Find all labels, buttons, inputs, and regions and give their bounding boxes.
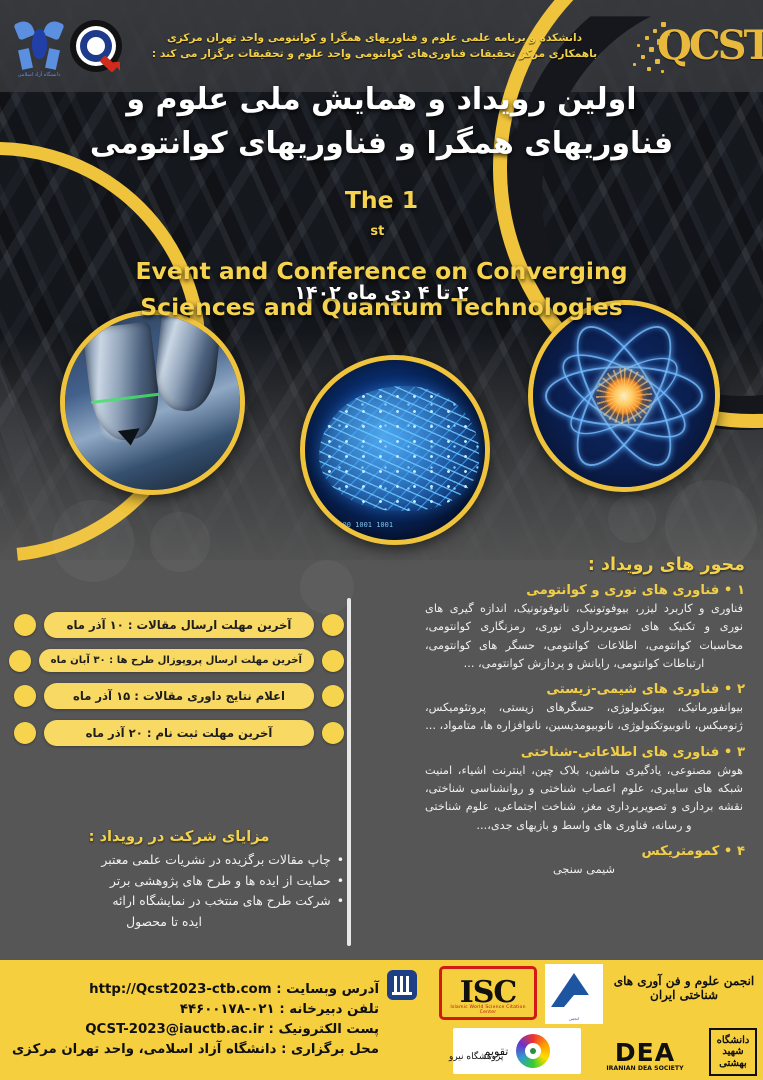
event-date: ۲ تا ۴ دی ماه ۱۴۰۲: [0, 282, 763, 304]
organizer-line-1: دانشکده و برنامه علمی علوم و فناوریهای ه…: [128, 30, 621, 46]
topic-title: ۳ • فناوری های اطلاعاتی-شناختی: [423, 745, 745, 760]
topic-name: فناوری های اطلاعاتی-شناختی: [521, 745, 719, 760]
topic-item: ۲ • فناوری های شیمی-زیستی بیوانفورماتیک،…: [423, 682, 745, 736]
email-line: پست الکترونیک : QCST-2023@iauctb.ac.ir: [2, 1020, 379, 1040]
topic-name: فناوری های نوری و کوانتومی: [526, 583, 719, 598]
deadline-row: آخرین مهلت ارسال مقالات : ۱۰ آذر ماه: [14, 612, 344, 638]
venue-line: محل برگزاری : دانشگاه آزاد اسلامی، واحد …: [2, 1040, 379, 1060]
ordinal-suffix: st: [370, 224, 384, 239]
contact-lines: آدرس وبسایت : http://Qcst2023-ctb.com تل…: [2, 980, 379, 1061]
english-title-prefix: The 1: [0, 183, 763, 219]
qcst-logo: QCST: [627, 10, 755, 82]
proposal-submission-deadline[interactable]: آخرین مهلت ارسال پروپوزال طرح ها : ۳۰ آب…: [39, 649, 314, 672]
bullet-dot-icon: [14, 722, 36, 744]
bullet-icon: •: [337, 871, 344, 892]
beheshti-label: دانشگاه شهید بهشتی: [711, 1035, 755, 1070]
deadline-row: آخرین مهلت ثبت نام : ۲۰ آذر ماه: [14, 720, 344, 746]
benefit-item: • چاپ مقالات برگزیده در نشریات علمی معتب…: [14, 850, 344, 871]
bullet-dot-icon: [14, 685, 36, 707]
venue-label: محل برگزاری :: [281, 1042, 379, 1057]
header-logos: دانشگاه آزاد اسلامی: [8, 15, 122, 77]
bullet-dot-icon: [322, 650, 344, 672]
binary-digits: 0110 0100 1001 1001: [313, 521, 393, 530]
isc-logo: ISC Islamic World Science Citation Cente…: [439, 966, 537, 1020]
benefit-item: • شرکت طرح های منتخب در نمایشگاه ارائه: [14, 891, 344, 912]
benefit-text: حمایت از ایده ها و طرح های پژوهشی برتر: [110, 871, 331, 892]
niroo-research-institute-label: پژوهشگاه نیرو: [449, 1052, 503, 1062]
bullet-dot-icon: [14, 614, 36, 636]
persian-title-line-2: فناوریهای همگرا و فناوریهای کوانتومی: [40, 122, 723, 166]
email-label: پست الکترونیک :: [269, 1022, 379, 1037]
topic-body: هوش مصنوعی، یادگیری ماشین، بلاک چین، این…: [423, 762, 745, 835]
bullet-icon: •: [337, 891, 344, 912]
book-icon: [387, 970, 417, 1000]
benefit-continuation: ایده تا محصول: [14, 912, 344, 933]
ghost-circle: [300, 560, 354, 614]
rainbow-ring-icon: [516, 1034, 550, 1068]
bullet-icon: •: [337, 850, 344, 871]
benefits-heading: مزایای شرکت در رویداد :: [14, 828, 344, 845]
topic-number: ۳: [737, 745, 745, 760]
deadlines-section: آخرین مهلت ارسال مقالات : ۱۰ آذر ماه آخر…: [14, 612, 344, 757]
topic-body: فناوری و کاربرد لیزر، بیوفوتونیک، نانوفو…: [423, 600, 745, 673]
topic-body: شیمی سنجی: [423, 861, 745, 879]
calendar-org-logo: تقویم: [453, 1028, 581, 1074]
phone-number: ۰۲۱-۴۴۶۰۰۱۷۸: [180, 1002, 275, 1017]
website-line: آدرس وبسایت : http://Qcst2023-ctb.com: [2, 980, 379, 1000]
topic-item: ۱ • فناوری های نوری و کوانتومی فناوری و …: [423, 583, 745, 673]
isc-subtitle: Islamic World Science Citation Center: [442, 1005, 534, 1015]
atom-photo: [528, 300, 720, 492]
ghost-circle: [150, 512, 210, 572]
topic-name: فناوری های شیمی-زیستی: [546, 682, 719, 697]
topics-heading: محور های رویداد :: [423, 555, 745, 575]
bullet-dot-icon: [322, 685, 344, 707]
topic-title: ۱ • فناوری های نوری و کوانتومی: [423, 583, 745, 598]
benefits-section: مزایای شرکت در رویداد : • چاپ مقالات برگ…: [14, 828, 344, 932]
cognitive-society-logo: انجمن: [545, 964, 603, 1024]
organizer-text: دانشکده و برنامه علمی علوم و فناوریهای ه…: [122, 30, 627, 63]
topic-item: ۴ • کمومتریکس شیمی سنجی: [423, 844, 745, 879]
english-title: The 1st Event and Conference on Convergi…: [0, 183, 763, 326]
benefit-item: • حمایت از ایده ها و طرح های پژوهشی برتر: [14, 871, 344, 892]
bullet-dot-icon: [322, 614, 344, 636]
quantum-research-center-logo: [70, 20, 122, 72]
contact-info: آدرس وبسایت : http://Qcst2023-ctb.com تل…: [0, 960, 427, 1080]
dea-subtitle: IRANIAN DEA SOCIETY: [585, 1065, 705, 1072]
islamic-azad-university-logo: دانشگاه آزاد اسلامی: [16, 15, 62, 77]
shahid-beheshti-university-logo: دانشگاه شهید بهشتی: [709, 1028, 757, 1076]
persian-title-line-1: اولین رویداد و همایش ملی علوم و: [40, 78, 723, 122]
phone-label: تلفن دبیرخانه :: [279, 1002, 379, 1017]
topic-number: ۲: [737, 682, 745, 697]
deadline-row: اعلام نتایج داوری مقالات : ۱۵ آذر ماه: [14, 683, 344, 709]
isc-wordmark: ISC: [460, 978, 517, 1008]
venue-value: دانشگاه آزاد اسلامی، واحد تهران مرکزی: [12, 1042, 276, 1057]
cognitive-society-name: انجمن علوم و فن آوری های شناختی ایران: [609, 974, 759, 1002]
topic-name: کمومتریکس: [642, 844, 720, 859]
organizer-line-2: باهمکاری مرکز تحقیقات فناوری‌های کوانتوم…: [128, 46, 621, 62]
circuit-brain-photo: 0110 0100 1001 1001: [300, 355, 490, 545]
ghost-circle: [52, 500, 134, 582]
website-url[interactable]: http://Qcst2023-ctb.com: [89, 980, 271, 1000]
poster-footer: ISC Islamic World Science Citation Cente…: [0, 960, 763, 1080]
email-address[interactable]: QCST-2023@iauctb.ac.ir: [85, 1020, 264, 1040]
bullet-dot-icon: [322, 722, 344, 744]
pyramid-icon: [551, 973, 597, 1007]
topic-title: ۲ • فناوری های شیمی-زیستی: [423, 682, 745, 697]
pyramid-caption: انجمن: [545, 1016, 603, 1021]
dea-society-logo: DEA IRANIAN DEA SOCIETY: [585, 1030, 705, 1074]
paper-submission-deadline[interactable]: آخرین مهلت ارسال مقالات : ۱۰ آذر ماه: [44, 612, 314, 638]
qcst-wordmark: QCST: [657, 22, 763, 69]
column-divider: [347, 598, 351, 946]
phone-line: تلفن دبیرخانه : ۰۲۱-۴۴۶۰۰۱۷۸: [2, 1000, 379, 1020]
benefit-text: چاپ مقالات برگزیده در نشریات علمی معتبر: [101, 850, 330, 871]
dea-wordmark: DEA: [615, 1040, 675, 1065]
topic-body: بیوانفورماتیک، بیوتکنولوژی، حسگرهای زیست…: [423, 699, 745, 736]
topic-number: ۱: [737, 583, 745, 598]
persian-title: اولین رویداد و همایش ملی علوم و فناوریها…: [0, 78, 763, 167]
website-label: آدرس وبسایت :: [276, 982, 379, 997]
registration-deadline[interactable]: آخرین مهلت ثبت نام : ۲۰ آذر ماه: [44, 720, 314, 746]
topic-item: ۳ • فناوری های اطلاعاتی-شناختی هوش مصنوع…: [423, 745, 745, 835]
bullet-dot-icon: [9, 650, 31, 672]
review-results-announcement[interactable]: اعلام نتایج داوری مقالات : ۱۵ آذر ماه: [44, 683, 314, 709]
topics-section: محور های رویداد : ۱ • فناوری های نوری و …: [423, 555, 745, 888]
topic-number: ۴: [737, 844, 745, 859]
english-title-line-1: The 1st Event and Conference on Convergi…: [0, 183, 763, 290]
ghost-circle: [608, 495, 656, 543]
topic-title: ۴ • کمومتریکس: [423, 844, 745, 859]
conference-poster: QCST دانشکده و برنامه علمی علوم و فناوری…: [0, 0, 763, 1080]
benefit-text: شرکت طرح های منتخب در نمایشگاه ارائه: [112, 891, 330, 912]
microscope-objective-photo: [60, 310, 245, 495]
sponsor-logos: ISC Islamic World Science Citation Cente…: [427, 960, 763, 1080]
deadline-row: آخرین مهلت ارسال پروپوزال طرح ها : ۳۰ آب…: [14, 649, 344, 672]
